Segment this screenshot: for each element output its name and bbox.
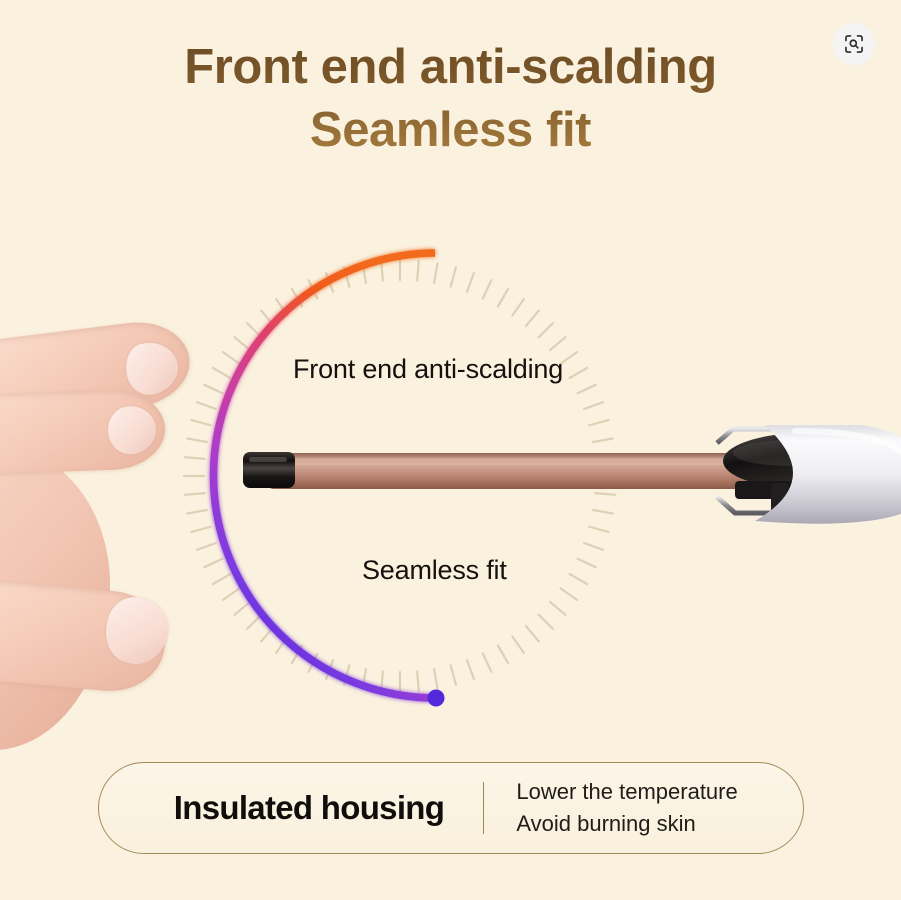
page-title: Front end anti-scalding Seamless fit [0, 36, 901, 161]
curling-wand-product [235, 425, 901, 555]
label-front-end-anti-scalding: Front end anti-scalding [293, 354, 563, 385]
hand-illustration [0, 330, 230, 730]
banner-description: Lower the temperature Avoid burning skin [516, 776, 737, 840]
banner-line-1: Lower the temperature [516, 776, 737, 808]
headline-line-2: Seamless fit [0, 99, 901, 162]
arc-end-dot [428, 690, 445, 707]
middle-fingernail [105, 403, 159, 457]
banner-title: Insulated housing [135, 789, 483, 827]
palm [0, 450, 110, 750]
headline-line-1: Front end anti-scalding [184, 40, 717, 94]
banner-divider [483, 782, 484, 834]
thumb [0, 575, 169, 696]
tip-highlight [249, 457, 287, 462]
banner-line-2: Avoid burning skin [516, 808, 737, 840]
index-fingernail [120, 336, 183, 399]
product-feature-image: Front end anti-scalding Seamless fit [0, 0, 901, 900]
barrel-highlight [277, 458, 747, 465]
thumbnail [100, 592, 174, 669]
middle-finger [0, 388, 166, 476]
index-finger [0, 316, 194, 427]
label-seamless-fit: Seamless fit [362, 555, 507, 586]
insulated-housing-banner: Insulated housing Lower the temperature … [98, 762, 804, 854]
